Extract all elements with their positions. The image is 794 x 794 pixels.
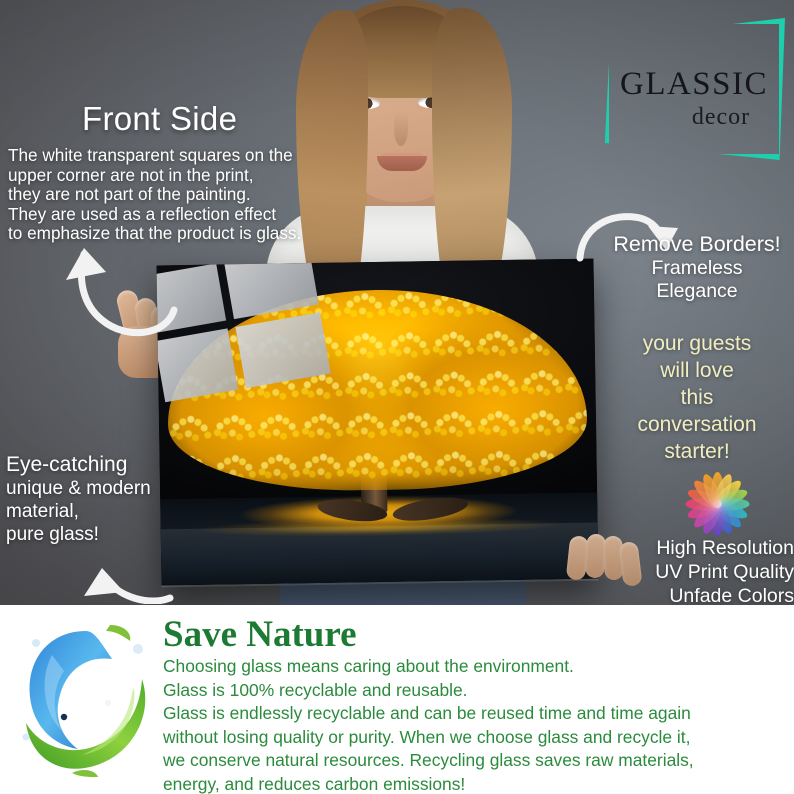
guests-line: conversation bbox=[600, 411, 794, 438]
front-side-line: upper corner are not in the print, bbox=[8, 166, 343, 186]
guests-line: your guests bbox=[600, 330, 794, 357]
arrow-up-icon bbox=[72, 548, 176, 604]
remove-borders-line: Elegance bbox=[600, 280, 794, 303]
quality-line: Unfade Colors bbox=[596, 584, 794, 605]
logo-name: GLASSIC bbox=[581, 66, 794, 103]
remove-borders-block: Remove Borders! Frameless Elegance bbox=[600, 232, 794, 303]
guests-block: your guests will love this conversation … bbox=[600, 330, 794, 465]
nose bbox=[394, 112, 408, 146]
guests-line: will love bbox=[600, 357, 794, 384]
remove-borders-heading: Remove Borders! bbox=[600, 232, 794, 257]
eye-catching-line: pure glass! bbox=[6, 523, 182, 546]
save-nature-line: Choosing glass means caring about the en… bbox=[163, 655, 791, 679]
reflection-square bbox=[224, 259, 319, 320]
flower-rosette-icon bbox=[668, 466, 766, 542]
save-nature-line: without losing quality or purity. When w… bbox=[163, 726, 791, 750]
quality-line: High Resolution bbox=[596, 536, 794, 560]
eye-catching-line: material, bbox=[6, 500, 182, 523]
mouth bbox=[377, 156, 427, 171]
save-nature-line: we conserve natural resources. Recycling… bbox=[163, 749, 791, 773]
save-nature-title: Save Nature bbox=[163, 613, 357, 656]
save-nature-section: Save Nature Choosing glass means caring … bbox=[0, 605, 794, 794]
front-side-line: they are not part of the painting. bbox=[8, 185, 343, 205]
front-side-line: They are used as a reflection effect bbox=[8, 205, 343, 225]
save-nature-line: Glass is endlessly recyclable and can be… bbox=[163, 702, 791, 726]
guests-line: this bbox=[600, 384, 794, 411]
photo-scene: GLASSIC decor Front Side The white trans… bbox=[0, 0, 794, 605]
eye-catching-heading: Eye-catching bbox=[6, 452, 182, 477]
save-nature-body: Choosing glass means caring about the en… bbox=[163, 655, 791, 794]
save-nature-line: energy, and reduces carbon emissions! bbox=[163, 773, 791, 794]
glass-art-panel[interactable] bbox=[157, 259, 599, 586]
reflection-square bbox=[235, 312, 330, 388]
brand-logo: GLASSIC decor bbox=[603, 18, 785, 160]
front-side-line: The white transparent squares on the bbox=[8, 146, 343, 166]
product-marketing-image: GLASSIC decor Front Side The white trans… bbox=[0, 0, 794, 794]
save-nature-line: Glass is 100% recyclable and reusable. bbox=[163, 679, 791, 703]
front-side-title: Front Side bbox=[82, 100, 237, 138]
eye-catching-block: Eye-catching unique & modern material, p… bbox=[6, 452, 182, 546]
quality-line: UV Print Quality bbox=[596, 560, 794, 584]
remove-borders-line: Frameless bbox=[600, 257, 794, 280]
eco-fish-leaf-icon bbox=[12, 615, 160, 783]
eye-catching-line: unique & modern bbox=[6, 477, 182, 500]
quality-block: High Resolution UV Print Quality Unfade … bbox=[596, 536, 794, 605]
arrow-up-left-icon bbox=[54, 228, 182, 350]
guests-line: starter! bbox=[600, 438, 794, 465]
logo-subtitle: decor bbox=[581, 104, 794, 131]
